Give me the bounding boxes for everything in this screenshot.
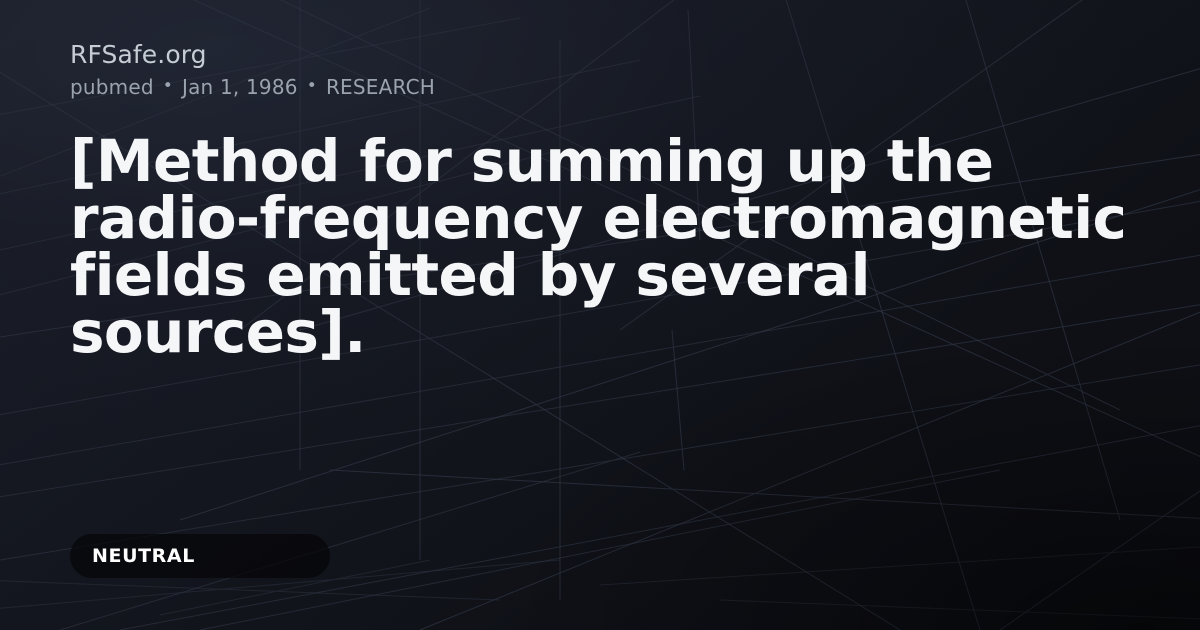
meta-source: pubmed	[70, 75, 154, 99]
content-spacer	[70, 361, 1130, 534]
site-brand: RFSafe.org	[70, 40, 1130, 69]
meta-date: Jan 1, 1986	[182, 75, 298, 99]
og-share-card: RFSafe.org pubmed • Jan 1, 1986 • RESEAR…	[0, 0, 1200, 630]
meta-separator-icon: •	[163, 78, 173, 95]
status-badge: NEUTRAL	[70, 534, 330, 578]
meta-category: RESEARCH	[326, 75, 435, 99]
badge-row: NEUTRAL	[70, 534, 1130, 578]
card-content: RFSafe.org pubmed • Jan 1, 1986 • RESEAR…	[0, 0, 1200, 630]
meta-separator-icon: •	[307, 78, 317, 95]
article-meta: pubmed • Jan 1, 1986 • RESEARCH	[70, 75, 1130, 99]
page-title: [Method for summing up the radio-frequen…	[70, 133, 1130, 361]
